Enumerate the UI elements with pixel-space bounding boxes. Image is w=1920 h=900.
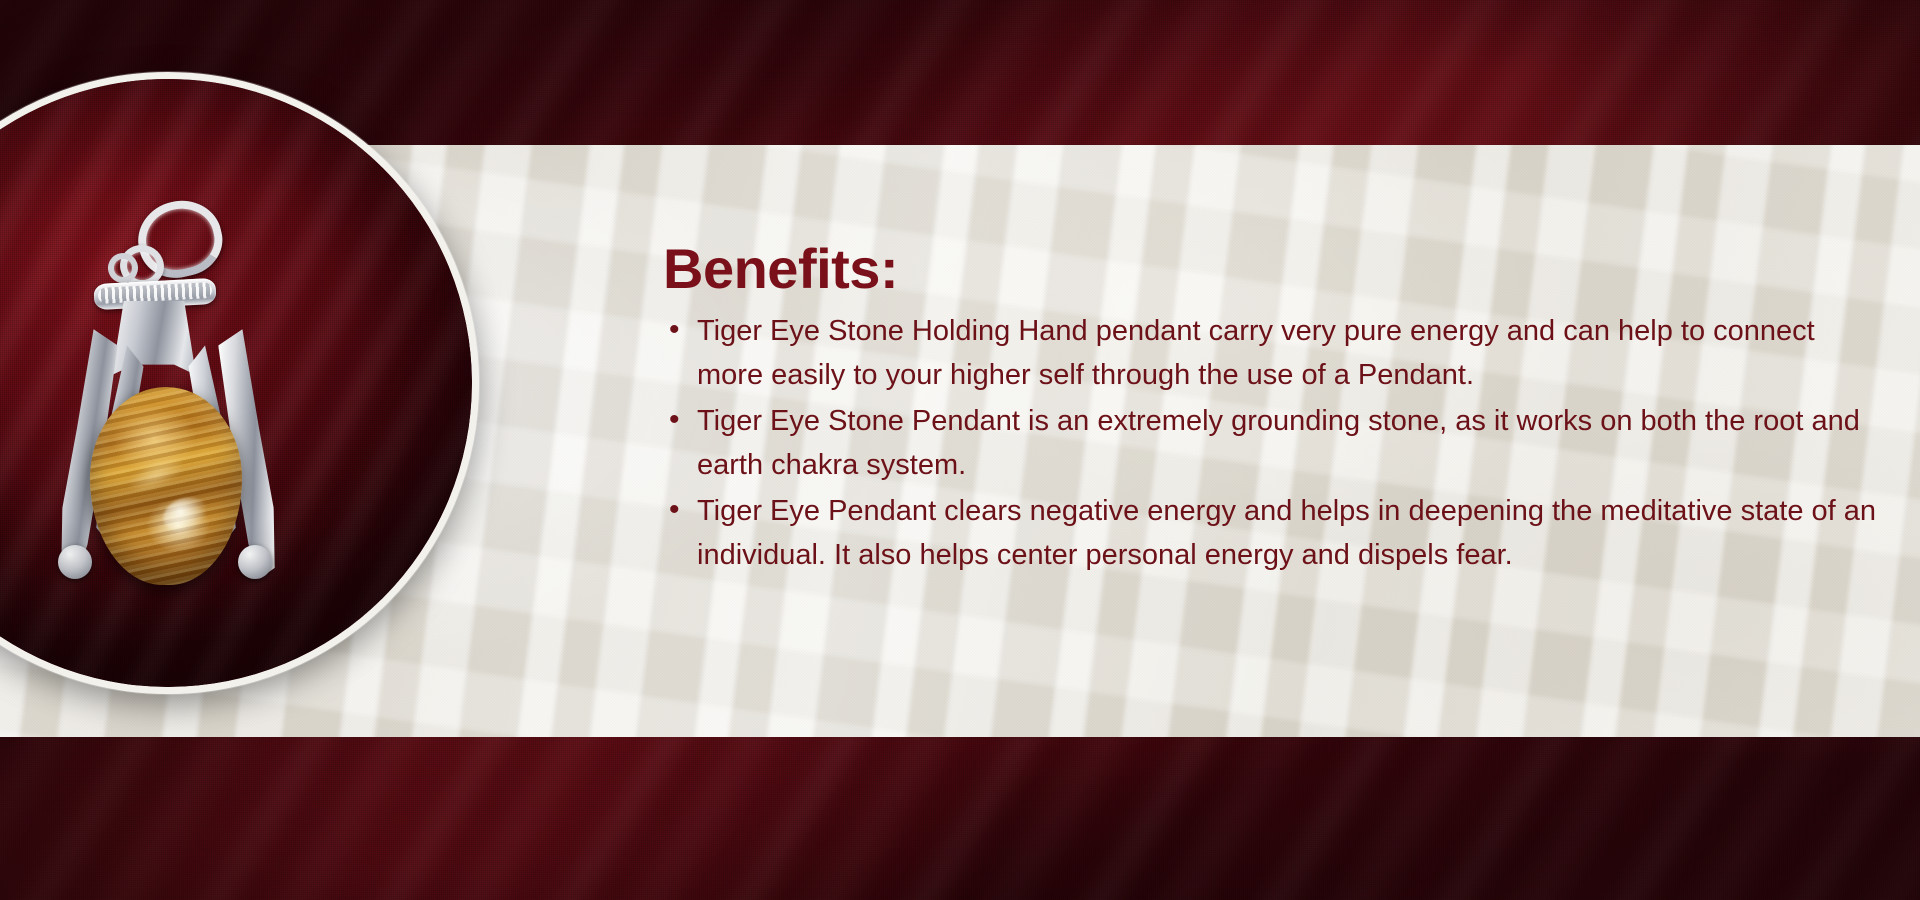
page-title: Benefits: (663, 240, 1878, 299)
pendant-photo (0, 79, 472, 687)
benefits-content: Benefits: Tiger Eye Stone Holding Hand p… (663, 240, 1878, 579)
list-item: Tiger Eye Pendant clears negative energy… (663, 489, 1878, 577)
benefits-list: Tiger Eye Stone Holding Hand pendant car… (663, 309, 1878, 577)
banner-stage: Benefits: Tiger Eye Stone Holding Hand p… (0, 0, 1920, 900)
product-photo-medallion[interactable] (0, 72, 479, 694)
list-item: Tiger Eye Stone Pendant is an extremely … (663, 399, 1878, 487)
list-item: Tiger Eye Stone Holding Hand pendant car… (663, 309, 1878, 397)
